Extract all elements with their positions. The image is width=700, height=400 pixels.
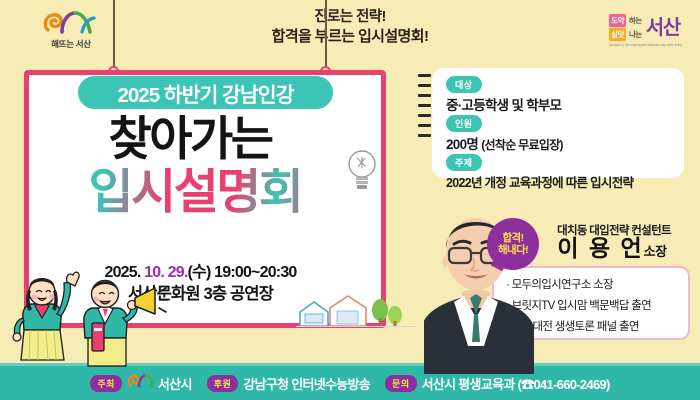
footer-badge: 주최 xyxy=(90,375,122,392)
board-tab-label: 2025 하반기 강남인강 xyxy=(78,76,333,109)
date-suffix: (수) 19:00~20:30 xyxy=(188,264,297,281)
slogan-rest-1: 하는 xyxy=(629,15,642,26)
slogan-rest-2: 나는 xyxy=(629,29,642,40)
slogan-micro-text: Seosan-si, the leaping and delicious cit… xyxy=(609,43,682,47)
footer-group-host: 주최 서산시 xyxy=(90,373,191,394)
slogan-tag-1: 도약 xyxy=(609,14,626,27)
bubble-line-1: 합격! xyxy=(502,232,523,244)
footer-text: 서산시 xyxy=(158,374,192,393)
speaker-name: 이 용 언 xyxy=(557,235,643,261)
bubble-line-2: 해내다! xyxy=(498,244,528,256)
speaker-name-block: 이 용 언소장 xyxy=(526,236,698,261)
info-pill: 대상 xyxy=(446,76,482,93)
footer-badge: 문의 xyxy=(385,375,417,392)
info-pill: 주제 xyxy=(446,154,482,171)
poster-root: 해뜨는 서산 진로는 전략! 합격을 부르는 입시설명회! 도약 하는 살맛 나… xyxy=(0,0,700,400)
info-pill: 인원 xyxy=(446,115,482,132)
info-value: 중·고등학생 및 학부모 xyxy=(446,94,684,114)
info-row: 인원 200명 (선착순 무료입장) xyxy=(432,114,684,153)
hanging-string-left xyxy=(113,0,115,74)
info-row: 주제 2022년 개정 교육과정에 따른 입시전략 xyxy=(432,153,684,191)
info-row: 대상 중·고등학생 및 학부모 xyxy=(432,68,684,114)
info-value-note: (선착순 무료입장) xyxy=(481,138,563,152)
footer-text: 서산시 평생교육과 (☎041-660-2469) xyxy=(422,374,610,393)
header-tagline: 진로는 전략! 합격을 부르는 입시설명회! xyxy=(0,8,700,47)
footer-group-sponsor: 후원 강남구청 인터넷수능방송 xyxy=(207,374,370,393)
board-title-line-1: 찾아가는 xyxy=(40,115,340,162)
two-students-illustration xyxy=(8,268,168,374)
tagline-line-1: 진로는 전략! xyxy=(0,8,700,27)
board-title-line-2: 입시설명회 xyxy=(30,168,360,217)
seosan-city-logo xyxy=(127,373,153,394)
info-value-main: 200명 xyxy=(446,137,478,152)
lightbulb-icon xyxy=(345,148,379,194)
hanging-string-right xyxy=(325,0,327,74)
info-card: 대상 중·고등학생 및 학부모 인원 200명 (선착순 무료입장) 주제 20… xyxy=(432,68,684,178)
info-value: 200명 (선착순 무료입장) xyxy=(446,133,684,153)
speaker-title: 소장 xyxy=(644,244,667,259)
footer-group-contact: 문의 서산시 평생교육과 (☎041-660-2469) xyxy=(385,374,610,393)
success-speech-bubble: 합격! 해내다! xyxy=(487,218,539,270)
slogan-city: 서산 xyxy=(646,18,680,38)
tagline-line-2: 합격을 부르는 입시설명회! xyxy=(0,27,700,47)
seosan-slogan-logo: 도약 하는 살맛 나는 서산 Seosan-si, the leaping an… xyxy=(609,14,682,47)
slogan-tag-2: 살맛 xyxy=(609,28,626,41)
footer-text: 강남구청 인터넷수능방송 xyxy=(243,374,370,393)
info-value: 2022년 개정 교육과정에 따른 입시전략 xyxy=(446,172,684,191)
footer-badge: 후원 xyxy=(207,375,239,392)
info-tick-marks xyxy=(418,74,432,144)
